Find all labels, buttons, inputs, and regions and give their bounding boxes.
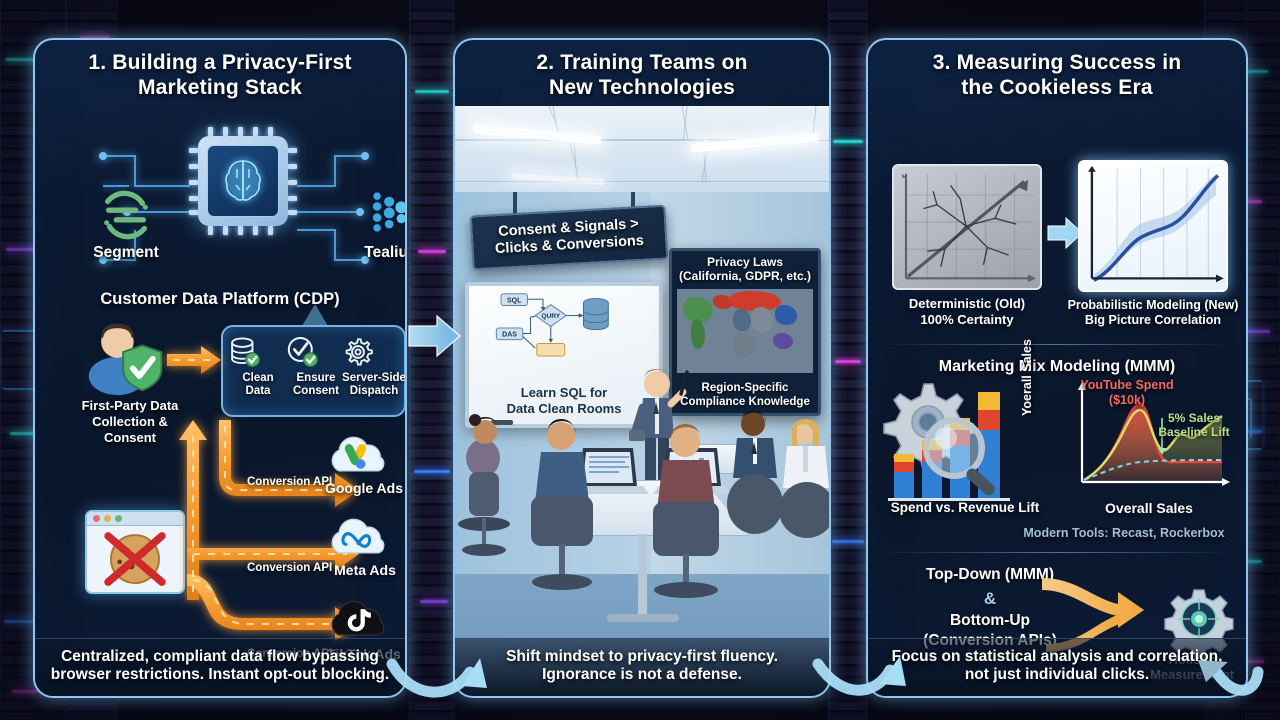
mmm-xlabel: Overall Sales [1064, 500, 1234, 516]
hanging-sign: Consent & Signals > Clicks & Conversions [470, 205, 669, 270]
deterministic-cracked-graph [892, 164, 1042, 290]
probabilistic-confidence-graph [1078, 160, 1228, 292]
google-ads-label: Google Ads [321, 480, 407, 496]
probabilistic-caption: Probabilistic Modeling (New) Big Picture… [1058, 298, 1248, 328]
panel-2-title: 2. Training Teams on New Technologies [455, 40, 829, 108]
panel-building-privacy-first-marketing-stack: 1. Building a Privacy-First Marketing St… [33, 38, 407, 698]
panel-3-title: 3. Measuring Success in the Cookieless E… [868, 40, 1246, 108]
youtube-spend-annotation: YouTube Spend ($10k) [1068, 378, 1186, 407]
panel-measuring-success-cookieless-era: 3. Measuring Success in the Cookieless E… [866, 38, 1248, 698]
screen-title: Privacy Laws (California, GDPR, etc.) [672, 251, 818, 286]
panel-3-caption: Focus on statistical analysis and correl… [868, 638, 1246, 696]
tiktok-ads-cloud-icon [323, 592, 393, 640]
world-map-icon [677, 289, 813, 373]
spend-vs-revenue-caption: Spend vs. Revenue Lift [876, 500, 1054, 515]
sales-baseline-lift-annotation: 5% Sales Baseline Lift [1146, 412, 1242, 440]
panel-2-caption: Shift mindset to privacy-first fluency. … [455, 638, 829, 696]
panel-1-caption: Centralized, compliant data flow bypassi… [35, 638, 405, 696]
mmm-title: Marketing Mix Modeling (MMM) [868, 358, 1246, 376]
seated-attendees [455, 406, 831, 666]
conversion-api-label-meta: Conversion API [247, 562, 332, 574]
deterministic-caption: Deterministic (Old) 100% Certainty [878, 296, 1056, 327]
screen-caption: Region-Specific Compliance Knowledge [672, 382, 818, 409]
meta-ads-label: Meta Ads [325, 562, 405, 578]
svg-text:QURY: QURY [541, 313, 560, 320]
panel-training-teams-new-technologies: 2. Training Teams on New Technologies Co… [453, 38, 831, 698]
training-room-scene: Consent & Signals > Clicks & Conversions [455, 106, 829, 696]
svg-text:SQL: SQL [507, 297, 522, 304]
meta-ads-cloud-icon [323, 510, 393, 558]
svg-text:DAS: DAS [502, 332, 517, 339]
conversion-api-label-google: Conversion API [247, 476, 332, 488]
mmm-footnote: Modern Tools: Recast, Rockerbox [1008, 526, 1240, 540]
ceiling [455, 106, 829, 198]
privacy-laws-screen: Privacy Laws (California, GDPR, etc.) Re… [669, 248, 821, 416]
google-ads-cloud-icon [323, 428, 393, 476]
mmm-ylabel: Yoerall Sales [1020, 339, 1034, 416]
